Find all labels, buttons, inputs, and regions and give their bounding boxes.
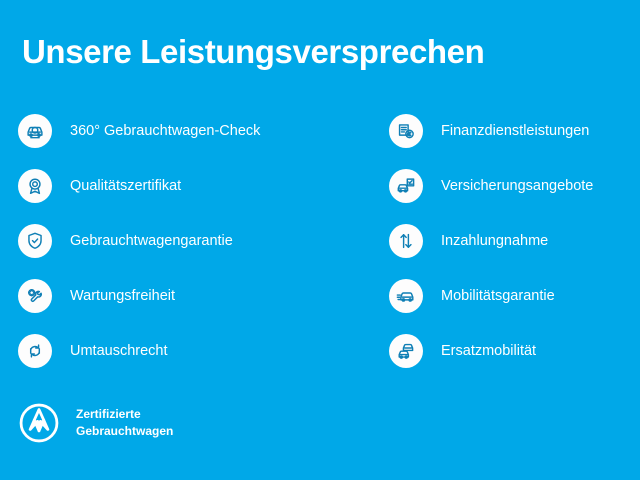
benefit-item-warranty: Gebrauchtwagengarantie xyxy=(18,224,368,258)
benefit-item-360-check: 360° Gebrauchtwagen-Check xyxy=(18,114,368,148)
benefits-right-column: Finanzdienstleistungen Versicherungsange… xyxy=(389,114,639,389)
wrench-gear-icon xyxy=(18,279,52,313)
benefit-label: Mobilitätsgarantie xyxy=(441,289,555,304)
benefit-label: Qualitätszertifikat xyxy=(70,179,181,194)
benefit-label: Finanzdienstleistungen xyxy=(441,124,589,139)
benefit-label: Gebrauchtwagengarantie xyxy=(70,234,233,249)
benefit-item-quality-certificate: Qualitätszertifikat xyxy=(18,169,368,203)
benefit-item-trade-in: Inzahlungnahme xyxy=(389,224,639,258)
benefit-item-maintenance-free: Wartungsfreiheit xyxy=(18,279,368,313)
benefit-item-replacement-mobility: Ersatzmobilität xyxy=(389,334,639,368)
shield-check-icon xyxy=(18,224,52,258)
benefit-label: Wartungsfreiheit xyxy=(70,289,175,304)
exchange-arrows-icon xyxy=(18,334,52,368)
footer-brand-text: Zertifizierte Gebrauchtwagen xyxy=(76,406,173,441)
benefit-item-financial-services: Finanzdienstleistungen xyxy=(389,114,639,148)
benefit-label: 360° Gebrauchtwagen-Check xyxy=(70,124,260,139)
volkswagen-logo-icon xyxy=(18,402,60,444)
up-down-arrows-icon xyxy=(389,224,423,258)
footer-line-2: Gebrauchtwagen xyxy=(76,423,173,440)
benefits-left-column: 360° Gebrauchtwagen-Check Qualitätszerti… xyxy=(18,114,368,389)
benefit-item-mobility-guarantee: Mobilitätsgarantie xyxy=(389,279,639,313)
car-motion-icon xyxy=(389,279,423,313)
benefit-item-exchange-right: Umtauschrecht xyxy=(18,334,368,368)
benefit-label: Inzahlungnahme xyxy=(441,234,548,249)
car-checklist-icon xyxy=(389,169,423,203)
award-rosette-icon xyxy=(18,169,52,203)
benefit-label: Versicherungsangebote xyxy=(441,179,593,194)
page-title: Unsere Leistungsversprechen xyxy=(22,34,484,70)
benefit-label: Ersatzmobilität xyxy=(441,344,536,359)
car-inspection-icon xyxy=(18,114,52,148)
footer-brand: Zertifizierte Gebrauchtwagen xyxy=(18,402,173,444)
document-euro-icon xyxy=(389,114,423,148)
promo-poster: Unsere Leistungsversprechen 360° Gebrauc… xyxy=(0,0,640,480)
benefit-label: Umtauschrecht xyxy=(70,344,168,359)
footer-line-1: Zertifizierte xyxy=(76,406,173,423)
two-cars-icon xyxy=(389,334,423,368)
benefit-item-insurance-offers: Versicherungsangebote xyxy=(389,169,639,203)
